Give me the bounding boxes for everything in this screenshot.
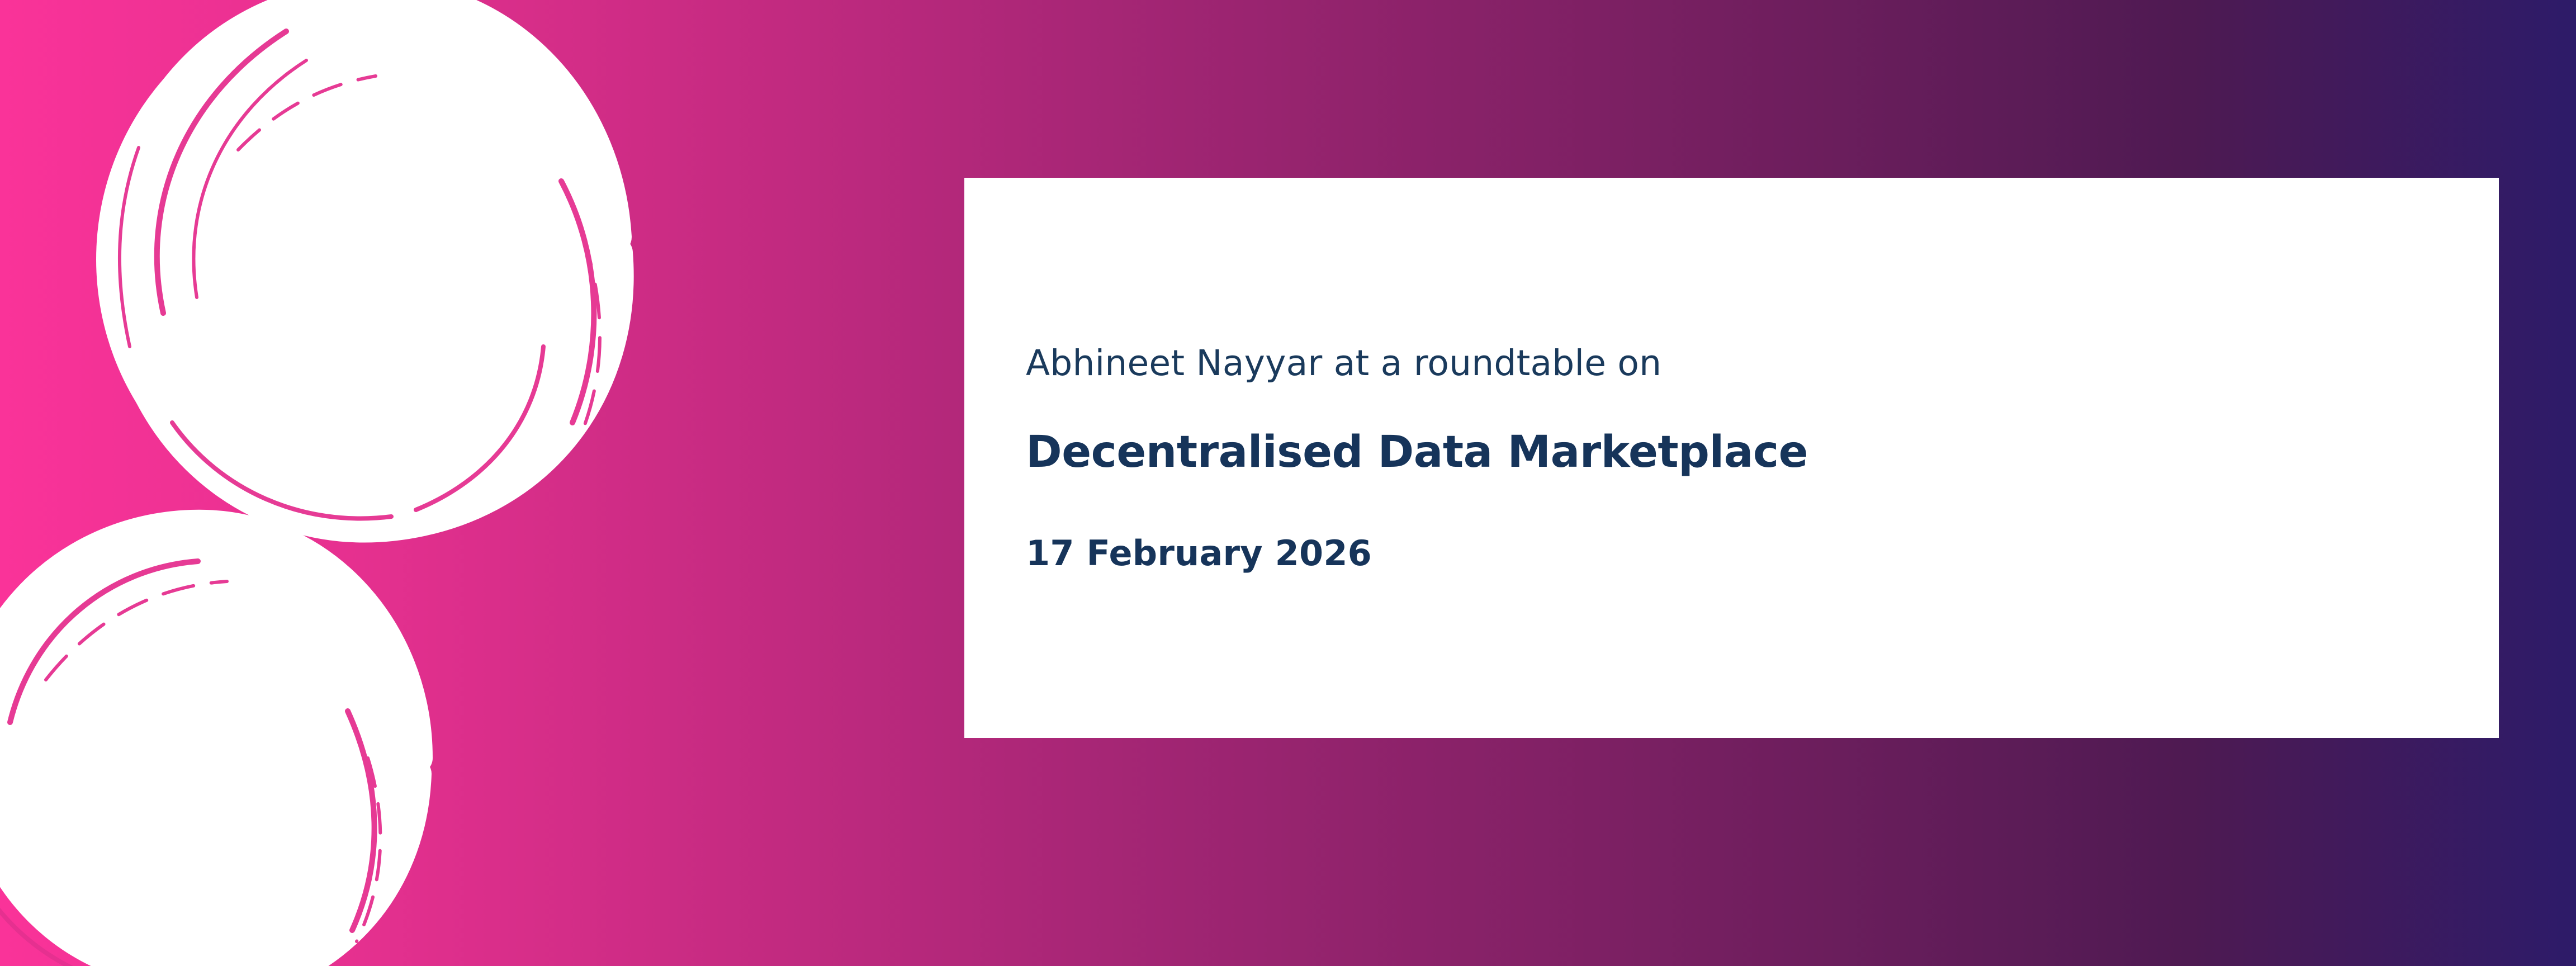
brush-circle-bottom-icon	[0, 492, 453, 966]
brush-circle-top-icon	[56, 0, 660, 548]
content-card: Abhineet Nayyar at a roundtable on Decen…	[964, 178, 2499, 738]
event-banner: Abhineet Nayyar at a roundtable on Decen…	[0, 0, 2576, 966]
event-date: 17 February 2026	[1026, 533, 2449, 574]
card-content: Abhineet Nayyar at a roundtable on Decen…	[1026, 178, 2449, 738]
speaker-kicker: Abhineet Nayyar at a roundtable on	[1026, 342, 2449, 386]
event-title: Decentralised Data Marketplace	[1026, 427, 2449, 479]
